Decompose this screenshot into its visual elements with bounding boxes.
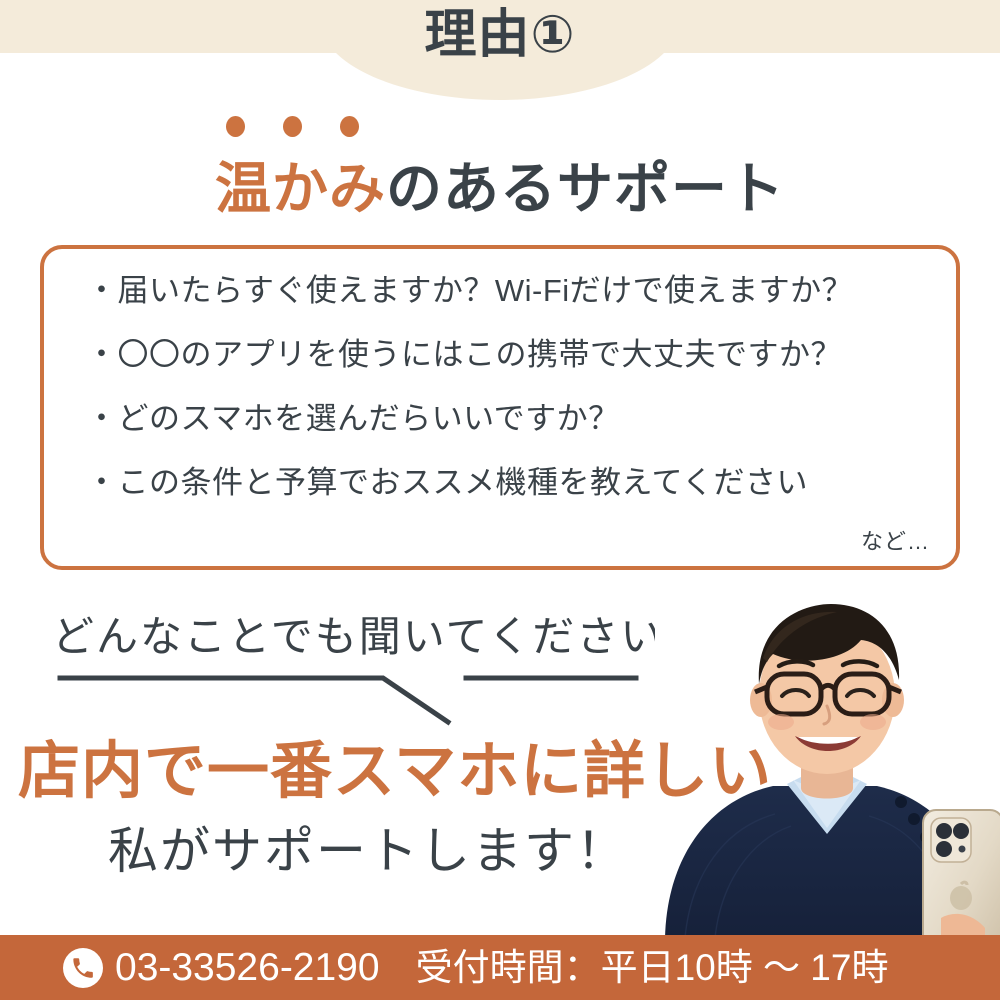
main-headline: 温かみのあるサポート [0, 144, 1000, 225]
speech-bubble-tail [40, 660, 680, 730]
sub-headline: 私がサポートします！ [108, 826, 628, 876]
footer-contact-bar: 03-33526-2190 受付時間：平日10時 〜 17時 [0, 935, 1000, 1000]
list-item: ・届いたらすぐ使えますか？Wi-Fiだけで使えますか？ [86, 275, 926, 306]
etc-note: など… [861, 524, 930, 556]
list-item: ・この条件と予算でおススメ機種を教えてください [86, 467, 926, 498]
main-headline-rest: のあるサポート [386, 157, 785, 220]
question-list: ・届いたらすぐ使えますか？Wi-Fiだけで使えますか？ ・〇〇のアプリを使うには… [86, 275, 926, 531]
phone-icon[interactable] [63, 948, 103, 988]
header-badge-label: 理由① [0, 8, 1000, 63]
main-headline-accent: 温かみ [215, 157, 386, 220]
ask-line-text: どんなことでも聞いてください！ [52, 603, 708, 664]
emphasis-dots [222, 116, 372, 138]
business-hours: 受付時間：平日10時 〜 17時 [416, 949, 889, 986]
list-item: ・どのスマホを選んだらいいですか？ [86, 403, 926, 434]
list-item: ・〇〇のアプリを使うにはこの携帯で大丈夫ですか？ [86, 339, 926, 370]
emphasis-dot [283, 116, 302, 137]
big-headline: 店内で一番スマホに詳しい [18, 741, 772, 803]
emphasis-dot [340, 116, 359, 137]
question-box: ・届いたらすぐ使えますか？Wi-Fiだけで使えますか？ ・〇〇のアプリを使うには… [40, 245, 960, 570]
phone-number[interactable]: 03-33526-2190 [115, 948, 380, 987]
emphasis-dot [226, 116, 245, 137]
